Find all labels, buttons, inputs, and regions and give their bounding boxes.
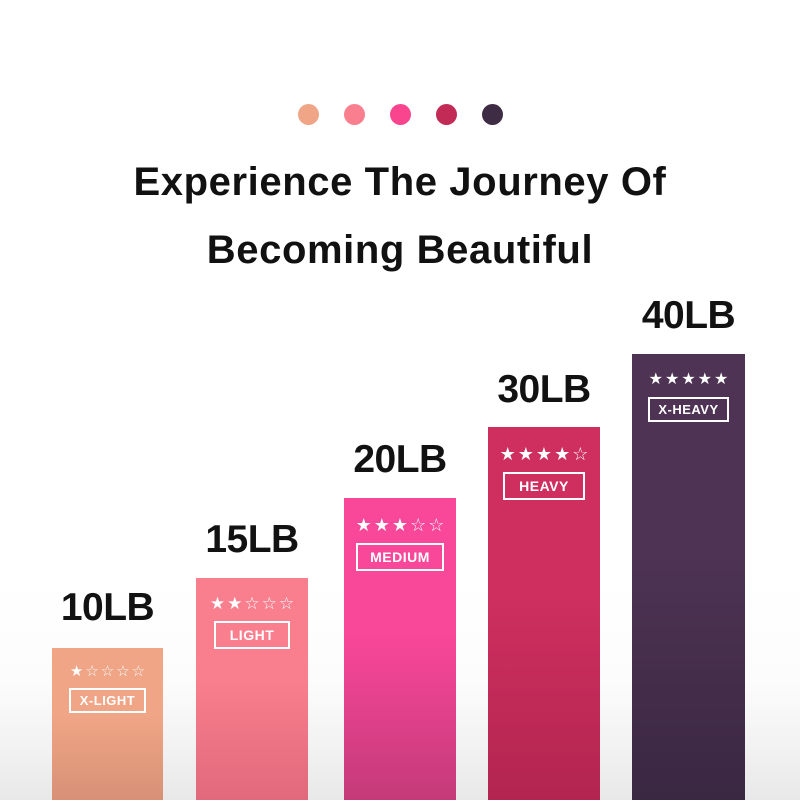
star-filled-icon: ★ [698,372,712,388]
level-badge: MEDIUM [356,543,444,571]
star-empty-icon: ☆ [572,445,588,463]
bar-inner-content: ★★★☆☆MEDIUM [344,516,456,571]
star-empty-icon: ☆ [262,595,277,612]
bar-group: 30LB★★★★☆HEAVY [488,370,600,800]
rating-stars: ★☆☆☆☆ [70,664,145,679]
level-badge: X-HEAVY [648,397,728,422]
star-filled-icon: ★ [356,516,372,534]
rating-stars: ★★★★☆ [500,445,589,463]
star-filled-icon: ★ [210,595,225,612]
star-filled-icon: ★ [374,516,390,534]
bar-group: 20LB★★★☆☆MEDIUM [344,440,456,800]
rating-stars: ★★☆☆☆ [210,595,294,612]
star-filled-icon: ★ [681,372,695,388]
level-badge: X-LIGHT [69,688,147,713]
star-filled-icon: ★ [649,372,663,388]
bar-group: 40LB★★★★★X-HEAVY [632,296,745,800]
star-filled-icon: ★ [500,445,516,463]
bar-rect[interactable]: ★★☆☆☆LIGHT [196,578,308,800]
rating-stars: ★★★★★ [649,372,729,388]
bar-weight-label: 15LB [205,520,298,560]
star-filled-icon: ★ [665,372,679,388]
star-filled-icon: ★ [554,445,570,463]
bar-rect[interactable]: ★★★★★X-HEAVY [632,354,745,800]
bar-group: 10LB★☆☆☆☆X-LIGHT [52,588,163,800]
bar-group: 15LB★★☆☆☆LIGHT [196,520,308,800]
resistance-band-bar-chart: 10LB★☆☆☆☆X-LIGHT15LB★★☆☆☆LIGHT20LB★★★☆☆M… [0,0,800,800]
star-empty-icon: ☆ [101,664,114,679]
star-filled-icon: ★ [518,445,534,463]
star-filled-icon: ★ [227,595,242,612]
star-empty-icon: ☆ [244,595,259,612]
star-empty-icon: ☆ [428,516,444,534]
star-empty-icon: ☆ [279,595,294,612]
star-empty-icon: ☆ [85,664,98,679]
star-empty-icon: ☆ [132,664,145,679]
star-empty-icon: ☆ [116,664,129,679]
star-filled-icon: ★ [70,664,83,679]
level-badge: HEAVY [503,472,585,500]
bar-weight-label: 30LB [497,370,590,410]
bar-weight-label: 10LB [61,588,154,628]
rating-stars: ★★★☆☆ [356,516,445,534]
bar-rect[interactable]: ★★★☆☆MEDIUM [344,498,456,800]
star-empty-icon: ☆ [410,516,426,534]
bar-rect[interactable]: ★★★★☆HEAVY [488,427,600,800]
level-badge: LIGHT [214,621,291,649]
star-filled-icon: ★ [536,445,552,463]
star-filled-icon: ★ [714,372,728,388]
star-filled-icon: ★ [392,516,408,534]
bar-weight-label: 20LB [353,440,446,480]
bar-inner-content: ★★★★☆HEAVY [488,445,600,500]
bar-rect[interactable]: ★☆☆☆☆X-LIGHT [52,648,163,800]
bar-inner-content: ★☆☆☆☆X-LIGHT [52,664,163,713]
bar-inner-content: ★★★★★X-HEAVY [632,372,745,422]
bar-inner-content: ★★☆☆☆LIGHT [196,595,308,649]
bar-weight-label: 40LB [642,296,735,336]
